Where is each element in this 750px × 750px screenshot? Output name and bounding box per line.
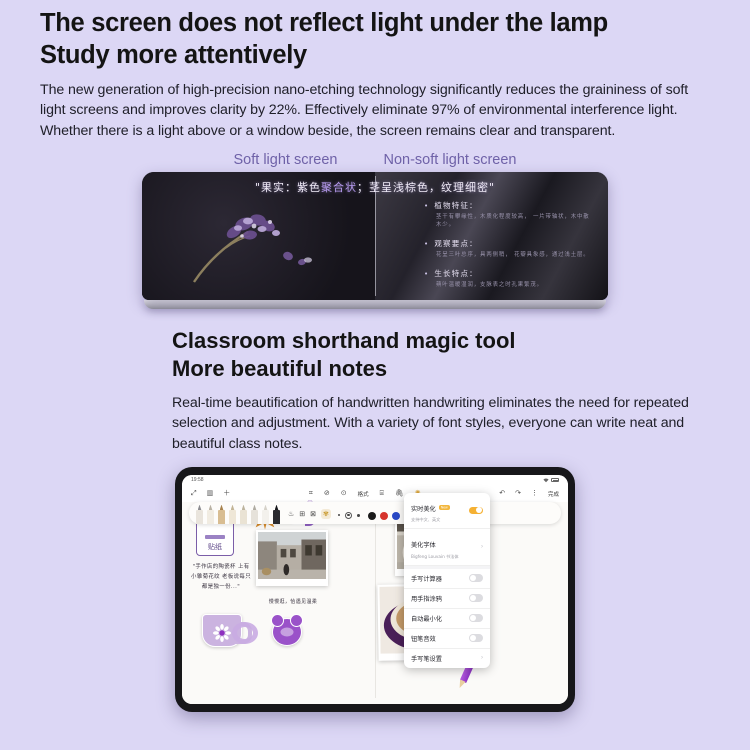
- size-small-icon[interactable]: [338, 514, 340, 516]
- wifi-icon: [543, 478, 549, 483]
- toggle-auto-minimize[interactable]: [469, 614, 483, 622]
- app-menu-bar: ⤢ ▥ ＋ ⌗ ⊘ ⊙ 格式 ⌸ 🖇 ✺ ↶ ↷ ⋮ 完成: [182, 486, 568, 502]
- stroke-size-group: [338, 512, 360, 519]
- setting-label: 手写计算器: [411, 574, 442, 583]
- size-medium-icon[interactable]: [345, 512, 352, 519]
- setting-label: 手写笔设置: [411, 654, 442, 663]
- chevron-right-icon[interactable]: ›: [481, 544, 483, 550]
- undo-icon[interactable]: ↶: [499, 490, 505, 497]
- street-photo: [256, 530, 328, 586]
- section2-body: Real-time beautification of handwritten …: [172, 393, 705, 455]
- text-style-icon[interactable]: ⌸: [380, 490, 384, 497]
- highlighter-pen[interactable]: [239, 505, 248, 524]
- note-title-prefix: "果实：紫色: [255, 181, 321, 194]
- handwritten-note: "手作店的陶瓷杯 上有小雏菊花纹 老板说每只 都是独一份...": [190, 562, 252, 593]
- ring-sticker: [232, 622, 258, 644]
- section1-headline: The screen does not reflect light under …: [40, 8, 710, 72]
- setting-row-handwriting-calculator[interactable]: 手写计算器: [404, 569, 490, 589]
- done-button[interactable]: 完成: [548, 490, 559, 498]
- tablet1-note-title: "果实：紫色聚合状；茎呈浅棕色，纹理细密": [142, 179, 608, 195]
- sidebar-icon[interactable]: ▥: [207, 490, 214, 497]
- headline-line-1: The screen does not reflect light under …: [40, 8, 710, 40]
- photo-caption: 慢慢逛，恰遇见温柔: [256, 598, 330, 605]
- label-non-soft-light-screen: Non-soft light screen: [384, 152, 517, 168]
- note-item: 生长特点： 蒴叶温暖湿润，支脉表之时孔果繁茂。: [424, 268, 594, 289]
- sticker-card-bar: [205, 535, 225, 539]
- shape-icon[interactable]: ⊙: [341, 490, 347, 497]
- headline2-line-1: Classroom shorthand magic tool: [172, 327, 750, 356]
- setting-sublabel: 支持中文、英文: [411, 517, 450, 523]
- note-subtext: 花呈三叶总序，具两侧稍， 花瓣具象感，通过浅土层。: [436, 251, 594, 259]
- note-title-highlight: 聚合状: [321, 181, 357, 194]
- size-large-icon[interactable]: [357, 514, 360, 517]
- marker-pen[interactable]: [228, 505, 237, 524]
- canvas-page-divider: [375, 524, 376, 698]
- sticker-card: 贴纸: [196, 520, 234, 556]
- menu-left-group: ⤢ ▥ ＋: [191, 490, 230, 497]
- color-swatch-blue[interactable]: [392, 512, 400, 520]
- wisteria-plant-illustration: [176, 202, 326, 288]
- toggle-handwriting-calculator[interactable]: [469, 574, 483, 582]
- pencil-pen[interactable]: [250, 505, 259, 524]
- street-photo-image: [258, 532, 326, 579]
- tray-tool-group: ♨ ⊞ ⊠ ✾: [288, 509, 331, 519]
- color-swatch-red[interactable]: [380, 512, 388, 520]
- bear-sticker: [272, 618, 302, 646]
- new-badge: New: [439, 505, 450, 510]
- screen-type-labels: Soft light screen Non-soft light screen: [40, 152, 710, 168]
- setting-row-realtime-beautify[interactable]: 实时美化New 支持中文、英文: [404, 493, 490, 530]
- setting-label: 美化字体: [411, 542, 436, 549]
- section-soft-light: The screen does not reflect light under …: [0, 0, 750, 168]
- setting-row-auto-minimize[interactable]: 自动最小化: [404, 609, 490, 629]
- setting-row-pen-sound[interactable]: 钮笔音效: [404, 629, 490, 649]
- note-title-suffix: ；茎呈浅棕色，纹理细密": [357, 181, 495, 194]
- tablet1-screen: "果实：紫色聚合状；茎呈浅棕色，纹理细密": [142, 172, 608, 300]
- sticker-card-label: 贴纸: [208, 542, 222, 552]
- section1-body: The new generation of high-precision nan…: [40, 80, 710, 142]
- note-canvas[interactable]: 贴纸 "手作店的陶瓷杯 上有小雏菊花纹 老板说每只 都是独一份...": [182, 502, 568, 704]
- status-indicators: [543, 478, 559, 483]
- setting-row-beautify-font[interactable]: 美化字体 Bigfeng Louvain 书法体 ›: [404, 529, 490, 566]
- redo-icon[interactable]: ↷: [515, 490, 521, 497]
- setting-row-stylus-settings[interactable]: 手写笔设置 ›: [404, 649, 490, 668]
- headline2-line-2: More beautiful notes: [172, 355, 750, 384]
- setting-label: 自动最小化: [411, 614, 442, 623]
- toggle-pen-sound[interactable]: [469, 634, 483, 642]
- format-label[interactable]: 格式: [358, 490, 369, 498]
- note-item: 观察要点： 花呈三叶总序，具两侧稍， 花瓣具象感，通过浅土层。: [424, 238, 594, 259]
- gel-pen[interactable]: [206, 505, 215, 524]
- eraser-pen[interactable]: [261, 505, 270, 524]
- tablet-notes-app: 19:58 ⤢ ▥ ＋ ⌗ ⊘ ⊙ 格式 ⌸ 🖇 ✺: [175, 467, 575, 712]
- more-icon[interactable]: ⋮: [531, 490, 538, 497]
- section2-headline: Classroom shorthand magic tool More beau…: [172, 327, 750, 384]
- eraser-icon[interactable]: ⊘: [324, 490, 330, 497]
- ruler-pen[interactable]: [272, 505, 281, 524]
- note-subtext: 蒴叶温暖湿润，支脉表之时孔果繁茂。: [436, 281, 594, 289]
- plus-icon[interactable]: ＋: [223, 490, 230, 497]
- setting-text-group: 美化字体 Bigfeng Louvain 书法体: [411, 534, 459, 560]
- lasso-icon[interactable]: ⌗: [309, 490, 313, 497]
- shape-tool-icon[interactable]: ⊠: [310, 510, 316, 518]
- note-subtext: 茎干有攀缘性，木质化程度较高， 一片带轴状，木中散木少。: [436, 213, 594, 229]
- setting-text-group: 实时美化New 支持中文、英文: [411, 498, 450, 524]
- tablet2-screen: 19:58 ⤢ ▥ ＋ ⌗ ⊘ ⊙ 格式 ⌸ 🖇 ✺: [182, 475, 568, 704]
- status-bar: 19:58: [182, 475, 568, 486]
- headline-line-2: Study more attentively: [40, 40, 710, 72]
- eraser-tool-icon[interactable]: ♨: [288, 510, 294, 518]
- lasso-tool-icon[interactable]: ⊞: [299, 510, 305, 518]
- color-swatch-black[interactable]: [368, 512, 376, 520]
- fountain-pen[interactable]: [195, 505, 204, 524]
- setting-label: 用手指涂鸦: [411, 594, 442, 603]
- status-time: 19:58: [191, 477, 204, 483]
- expand-icon[interactable]: ⤢: [191, 490, 197, 497]
- tablet-soft-light-comparison: "果实：紫色聚合状；茎呈浅棕色，纹理细密": [142, 172, 608, 309]
- setting-label: 实时美化: [411, 506, 436, 513]
- note-heading: 植物特征：: [424, 200, 594, 211]
- brush-pen[interactable]: [217, 505, 226, 524]
- pen-toolbar[interactable]: ♨ ⊞ ⊠ ✾: [189, 502, 561, 524]
- settings-tool-icon[interactable]: ✾: [321, 509, 331, 519]
- setting-sublabel: Bigfeng Louvain 书法体: [411, 554, 459, 560]
- attachment-icon[interactable]: 🖇: [395, 490, 404, 497]
- tablet1-bottom-bezel: [144, 300, 606, 309]
- note-heading: 生长特点：: [424, 268, 594, 279]
- section-shorthand: Classroom shorthand magic tool More beau…: [0, 309, 750, 455]
- battery-icon: [551, 478, 559, 482]
- note-heading: 观察要点：: [424, 238, 594, 249]
- beautify-settings-panel[interactable]: 实时美化New 支持中文、英文 美化字体 Bigfeng Louvain 书法体…: [404, 493, 490, 668]
- setting-label: 钮笔音效: [411, 634, 436, 643]
- menu-right-group: ↶ ↷ ⋮ 完成: [499, 490, 559, 498]
- toggle-realtime-beautify[interactable]: [469, 507, 483, 515]
- label-soft-light-screen: Soft light screen: [234, 152, 338, 168]
- setting-row-finger-draw[interactable]: 用手指涂鸦: [404, 589, 490, 609]
- chevron-right-icon[interactable]: ›: [481, 655, 483, 661]
- daisy-flower-icon: [213, 624, 231, 642]
- toggle-finger-draw[interactable]: [469, 594, 483, 602]
- tablet1-note-lines: 植物特征： 茎干有攀缘性，木质化程度较高， 一片带轴状，木中散木少。 观察要点：…: [424, 200, 594, 298]
- bear-face: [281, 628, 294, 637]
- note-item: 植物特征： 茎干有攀缘性，木质化程度较高， 一片带轴状，木中散木少。: [424, 200, 594, 229]
